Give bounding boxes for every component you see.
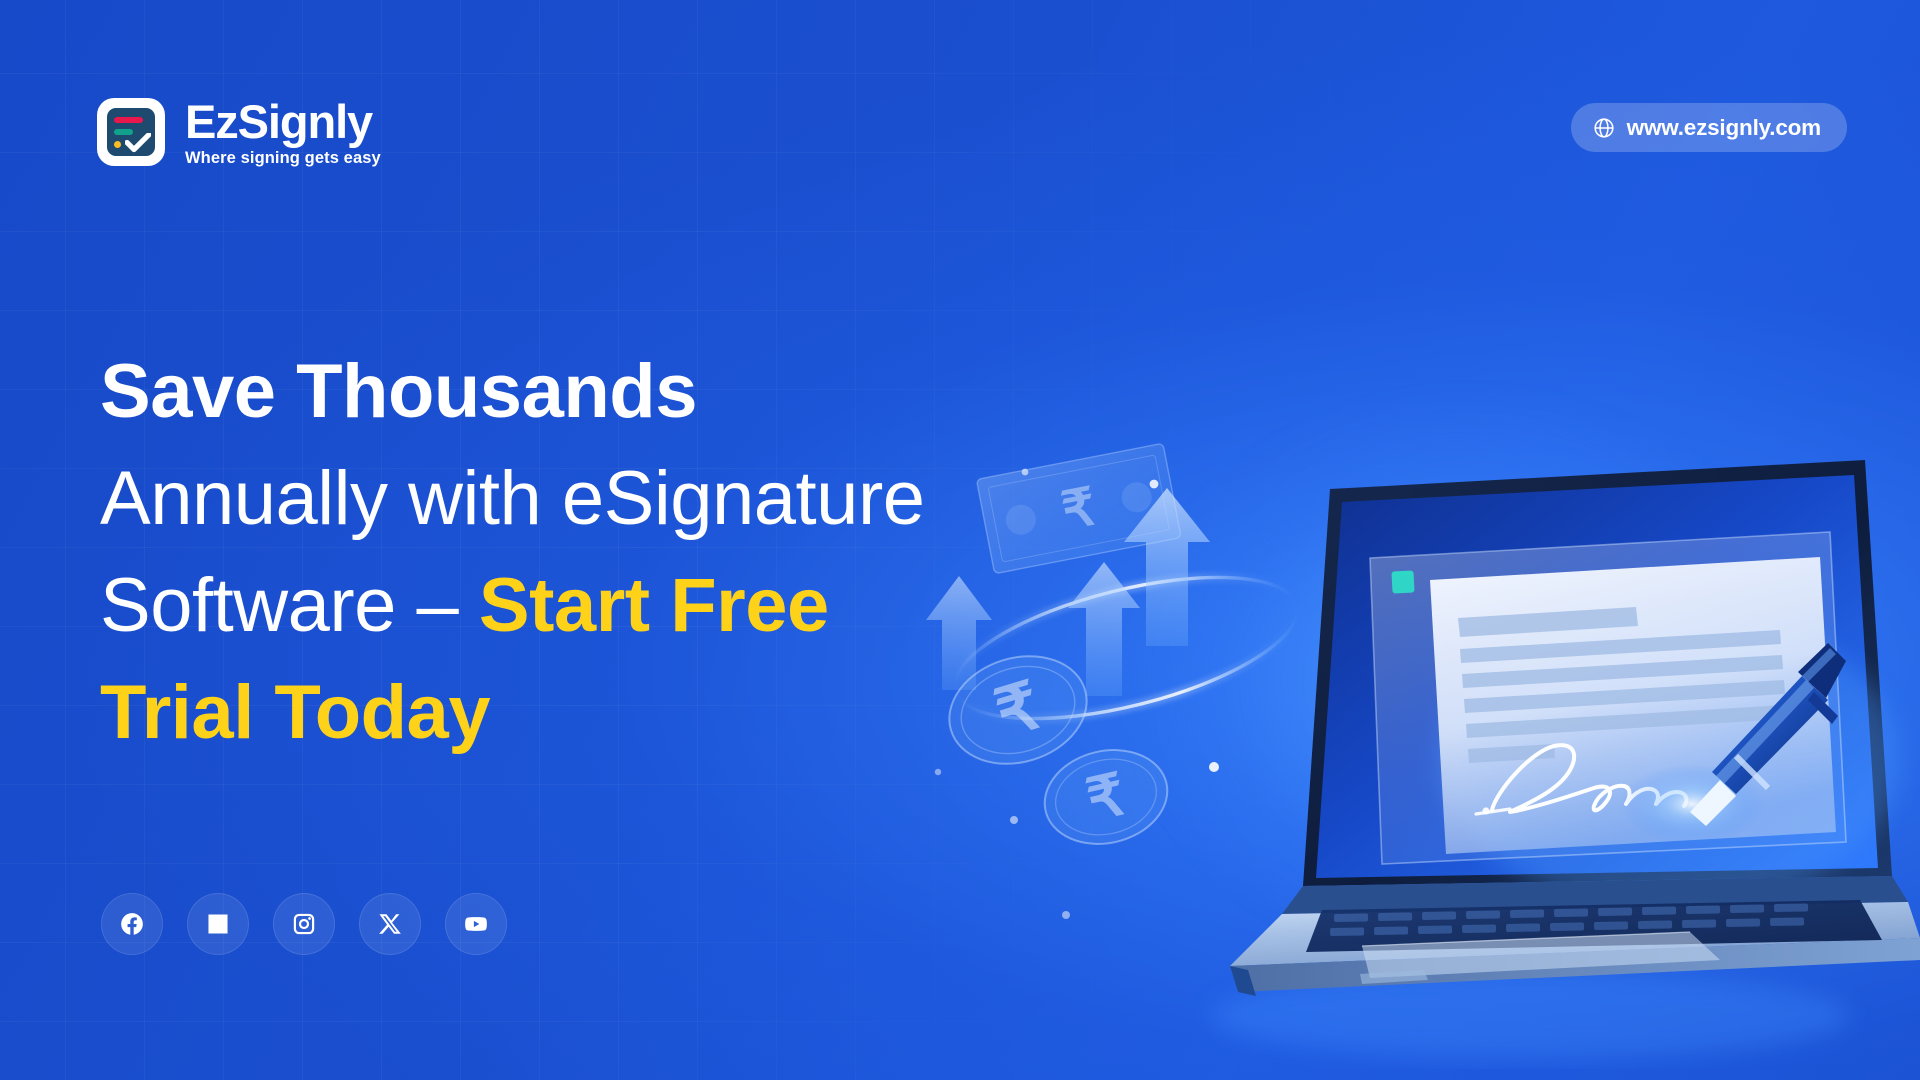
website-url-text: www.ezsignly.com: [1627, 115, 1821, 141]
status-indicator: [1391, 570, 1414, 593]
brand-logo[interactable]: EzSignly Where signing gets easy: [97, 98, 381, 167]
logo-dot-amber: [114, 141, 121, 148]
rupee-coin: ₹: [1035, 738, 1177, 856]
globe-icon: [1593, 117, 1615, 139]
headline-line-3-accent: Start Free: [479, 563, 829, 648]
laptop: [1210, 460, 1920, 1060]
hero-illustration: ₹ ₹ ₹: [930, 440, 1920, 1080]
logo-line-red: [114, 117, 143, 123]
social-link-facebook[interactable]: [101, 893, 163, 955]
document-checkmark-icon: [97, 98, 165, 166]
brand-tagline: Where signing gets easy: [185, 150, 381, 167]
x-twitter-icon: [377, 911, 403, 937]
facebook-icon: [119, 911, 145, 937]
social-link-instagram[interactable]: [273, 893, 335, 955]
hero-illustration-svg: ₹ ₹ ₹: [930, 440, 1920, 1080]
website-url-pill[interactable]: www.ezsignly.com: [1571, 103, 1847, 152]
youtube-icon: [463, 911, 489, 937]
instagram-icon: [291, 911, 317, 937]
banner-canvas: EzSignly Where signing gets easy www.ezs…: [0, 0, 1920, 1080]
linkedin-icon: [205, 911, 231, 937]
headline-line-3-prefix: Software –: [100, 563, 479, 648]
social-link-youtube[interactable]: [445, 893, 507, 955]
check-icon: [125, 133, 151, 153]
headline-line-1: Save Thousands: [100, 338, 1100, 445]
social-links: [101, 893, 507, 955]
social-link-linkedin[interactable]: [187, 893, 249, 955]
brand-name: EzSignly: [185, 98, 381, 145]
social-link-x-twitter[interactable]: [359, 893, 421, 955]
